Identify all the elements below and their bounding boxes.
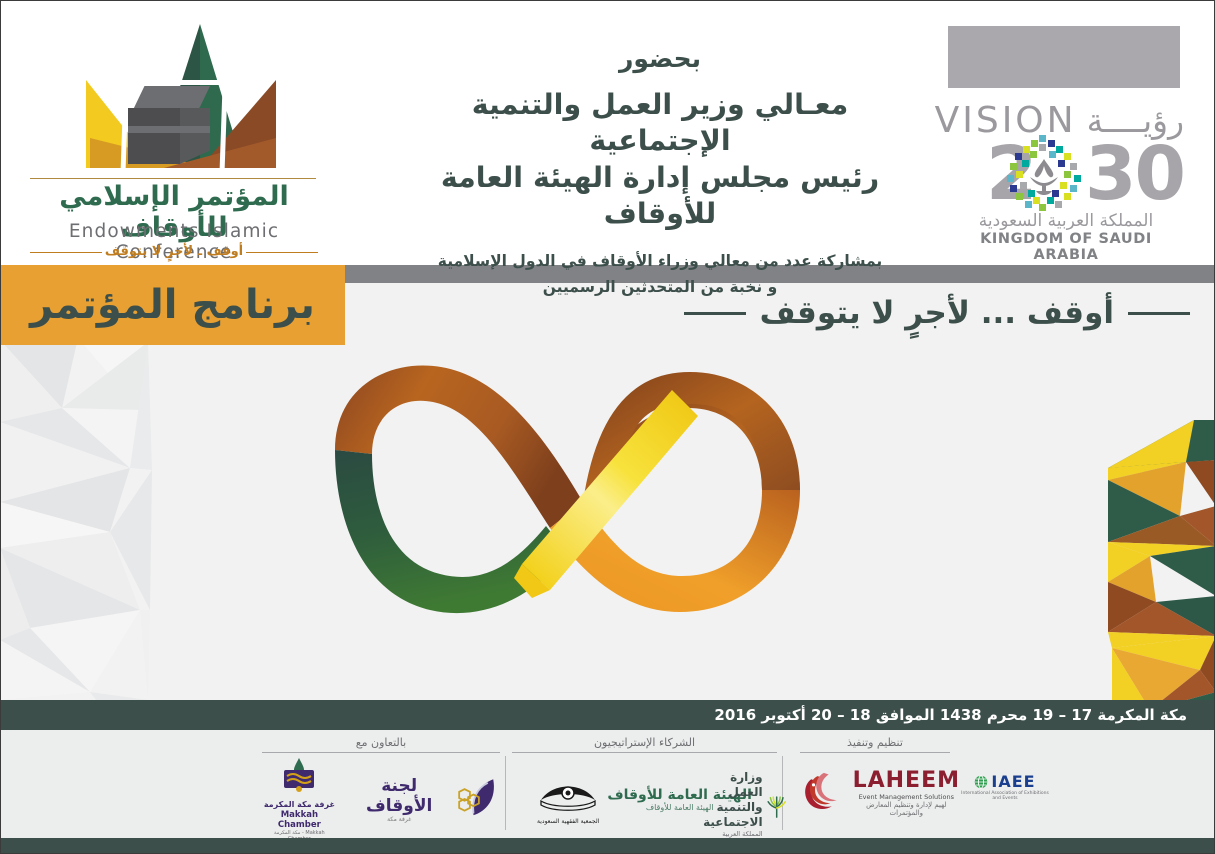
slogan-text: أوقف ... لأجرٍ لا يتوقف	[760, 295, 1114, 331]
kaaba-pyramid-mark	[14, 18, 334, 173]
date-location-text: مكة المكرمة 17 – 19 محرم 1438 الموافق 18…	[714, 706, 1187, 724]
kaaba-cube-icon	[128, 86, 214, 164]
logo-divider-top	[30, 178, 316, 179]
footer-logos-organiser: LAHEEM Event Management Solutions لهيم ل…	[800, 766, 960, 818]
footer-logos-cooperation: غرفة مكة المكرمة Makkah Chamber مكة المك…	[262, 753, 500, 835]
laheem-tagline-en: Event Management Solutions	[853, 793, 960, 801]
logo-fiqh-association: الجمعية الفقهية السعودية	[537, 774, 599, 825]
iaee-subtitle: International Association of Exhibitions…	[960, 791, 1050, 802]
vision-2030-logo: VISION رؤيــــة 2 0 3 0	[948, 26, 1184, 263]
endowments-feather-icon	[452, 775, 500, 823]
laheem-wordmark: LAHEEM	[853, 768, 960, 793]
slogan-dash-right	[1128, 312, 1190, 315]
programme-banner: برنامج المؤتمر	[0, 265, 345, 345]
logo-endowments-committee: لجنة الأوقاف غرفة مكة	[351, 775, 500, 823]
makkah-chamber-arabic: غرفة مكة المكرمة	[262, 800, 337, 809]
header-text-block: بحضور معـالي وزير العمل والتنمية الإجتما…	[400, 44, 920, 299]
footer-heading-organiser: تنظيم وتنفيذ	[800, 736, 950, 752]
sponsors-footer: بالتعاون مع غرفة مكة المكرمة Makkah Cham…	[0, 730, 1215, 838]
vision-kingdom-english: KINGDOM OF SAUDI ARABIA	[948, 231, 1184, 263]
vision-digit-3: 3	[1085, 139, 1135, 209]
laheem-lion-icon	[800, 766, 845, 818]
date-location-bar: مكة المكرمة 17 – 19 محرم 1438 الموافق 18…	[0, 700, 1215, 730]
header-minister-line1: معـالي وزير العمل والتنمية الإجتماعية	[400, 87, 920, 160]
infinity-loop-artwork	[300, 350, 860, 635]
logo-iaee: IAEE International Association of Exhibi…	[960, 772, 1050, 802]
footer-bottom-bar	[0, 838, 1215, 854]
saudi-emblem-icon	[1030, 159, 1058, 195]
endowments-committee-subtitle: غرفة مكة	[351, 816, 448, 823]
logo-makkah-chamber: غرفة مكة المكرمة Makkah Chamber مكة المك…	[262, 756, 337, 841]
iaee-globe-icon	[974, 775, 988, 789]
endowments-committee-arabic: لجنة الأوقاف	[351, 776, 448, 816]
vision-mosaic-icon	[1006, 135, 1082, 211]
makkah-chamber-english: Makkah Chamber	[262, 810, 337, 830]
header-participation-line1: بمشاركة عدد من معالي وزراء الأوقاف في ال…	[400, 249, 920, 273]
vision-placeholder-box	[948, 26, 1180, 88]
ministry-arabic-line1: وزارة العمل	[700, 770, 763, 800]
logo-tagline: أوقف ـ لأجرٍ لا يتوقف	[14, 244, 334, 259]
fiqh-association-mark-icon	[537, 774, 599, 814]
footer-heading-strategic: الشركاء الإستراتيجيون	[512, 736, 777, 752]
laheem-tagline-ar: لهيم لإدارة وتنظيم المعارض والمؤتمرات	[853, 801, 960, 817]
kaaba-band	[128, 126, 210, 133]
makkah-chamber-mark-icon	[274, 756, 324, 796]
conference-logo: المؤتمر الإسلامي للأوقاف Endowments Isla…	[14, 18, 334, 258]
fiqh-association-label: الجمعية الفقهية السعودية	[537, 818, 599, 825]
programme-banner-label: برنامج المؤتمر	[30, 282, 315, 328]
vision-year-row: 2 0 3 0	[948, 139, 1184, 209]
ministry-palm-icon	[767, 788, 786, 828]
slogan-dash-left	[684, 312, 746, 315]
footer-group-cooperation: بالتعاون مع غرفة مكة المكرمة Makkah Cham…	[262, 736, 500, 835]
header-minister-line2: رئيس مجلس إدارة الهيئة العامة للأوقاف	[400, 160, 920, 233]
ministry-arabic-line2: والتنمية الاجتماعية	[700, 800, 763, 830]
vision-digit-0: 0	[1135, 139, 1185, 209]
footer-heading-cooperation: بالتعاون مع	[262, 736, 500, 752]
conference-poster: المؤتمر الإسلامي للأوقاف Endowments Isla…	[0, 0, 1215, 854]
conference-slogan: أوقف ... لأجرٍ لا يتوقف	[684, 295, 1190, 331]
footer-rule-organiser	[800, 752, 950, 753]
footer-divider-1	[505, 756, 506, 830]
header-participation-line2: و نخبة من المتحدثين الرسميين	[400, 275, 920, 299]
footer-group-organiser: تنظيم وتنفيذ	[800, 736, 950, 753]
footer-group-ministry: وزارة العمل والتنمية الاجتماعية المملكة …	[700, 756, 786, 846]
header-attendance-label: بحضور	[400, 44, 920, 73]
iaee-wordmark: IAEE	[991, 772, 1035, 791]
kaaba-front-face	[128, 108, 180, 164]
